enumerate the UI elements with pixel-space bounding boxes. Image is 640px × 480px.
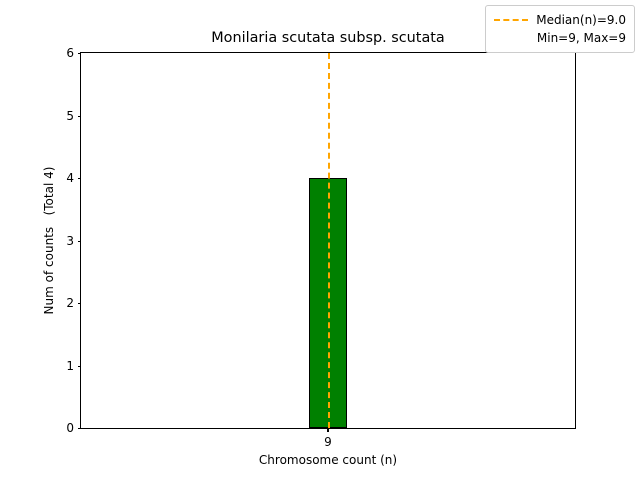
y-tick-label: 0: [66, 422, 74, 434]
y-tick-label: 5: [66, 110, 74, 122]
plot-axes: 01234569: [80, 52, 576, 429]
y-tick-mark: [78, 178, 82, 179]
y-tick-mark: [78, 53, 82, 54]
y-tick-mark: [78, 366, 82, 367]
y-axis-label: Num of counts (Total 4): [40, 52, 58, 429]
legend: Median(n)=9.0Min=9, Max=9: [485, 5, 635, 53]
y-tick-label: 2: [66, 297, 74, 309]
figure-canvas: Monilaria scutata subsp. scutata 0123456…: [0, 0, 640, 480]
x-tick-label: 9: [324, 435, 332, 449]
y-tick-label: 1: [66, 360, 74, 372]
legend-entry: Median(n)=9.0: [494, 11, 626, 29]
legend-entry: Min=9, Max=9: [494, 29, 626, 47]
y-tick-mark: [78, 303, 82, 304]
median-line: [328, 53, 330, 428]
y-tick-label: 6: [66, 47, 74, 59]
plot-area: [81, 53, 575, 428]
x-axis-label: Chromosome count (n): [80, 453, 576, 467]
legend-line-swatch: [494, 14, 528, 26]
y-tick-mark: [78, 241, 82, 242]
y-tick-label: 3: [66, 235, 74, 247]
legend-label: Min=9, Max=9: [536, 31, 626, 45]
y-tick-mark: [78, 428, 82, 429]
x-tick-mark: [327, 428, 328, 432]
y-tick-mark: [78, 116, 82, 117]
legend-label: Median(n)=9.0: [536, 13, 626, 27]
y-tick-label: 4: [66, 172, 74, 184]
